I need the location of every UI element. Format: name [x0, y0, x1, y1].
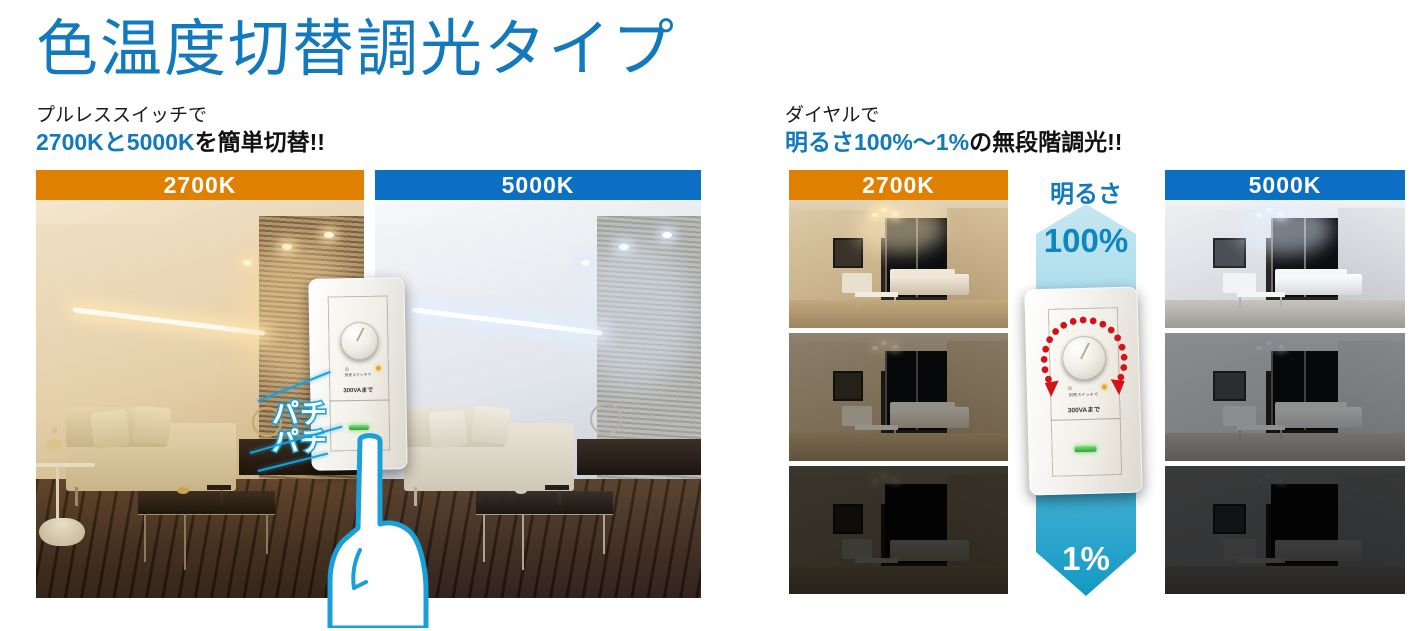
infographic-page: 色温度切替調光タイプ プルレススイッチで 2700Kと5000Kを簡単切替!! … — [0, 0, 1410, 631]
dial-max-marker-right — [1102, 384, 1107, 389]
left-caption-rest: を簡単切替!! — [195, 129, 325, 155]
photo-thumb-5000k-mid — [1165, 333, 1405, 461]
dial-max-marker — [376, 366, 381, 371]
led-indicator-left — [349, 425, 369, 430]
brightness-max-value: 100% — [1032, 222, 1140, 260]
right-bar-2700k: 2700K — [789, 170, 1008, 200]
photo-thumb-5000k-100 — [1165, 200, 1405, 328]
right-caption-rest: の無段階調光!! — [969, 129, 1122, 155]
led-indicator-right — [1074, 446, 1096, 453]
left-bar-5000k-label: 5000K — [502, 172, 575, 199]
left-caption-highlight: 2700Kと5000K — [36, 129, 195, 155]
photo-thumb-2700k-mid — [789, 333, 1008, 461]
switch-label-rating-right: 300VAまで — [1027, 403, 1140, 416]
pointing-hand-icon — [318, 432, 458, 628]
right-bar-2700k-label: 2700K — [862, 172, 935, 199]
dial-min-marker — [345, 367, 349, 371]
left-caption-line1: プルレススイッチで — [36, 104, 325, 128]
right-caption-line2: 明るさ100%～1%の無段階調光!! — [785, 128, 1122, 157]
dimmer-switch-device-right[interactable]: 別売スイッチで 300VAまで — [1024, 287, 1142, 496]
left-bar-2700k: 2700K — [36, 170, 364, 200]
left-bar-5000k: 5000K — [375, 170, 701, 200]
photo-thumb-2700k-min — [789, 466, 1008, 594]
right-caption: ダイヤルで 明るさ100%～1%の無段階調光!! — [785, 104, 1122, 157]
right-bar-5000k-label: 5000K — [1249, 172, 1322, 199]
left-caption: プルレススイッチで 2700Kと5000Kを簡単切替!! — [36, 104, 325, 157]
right-caption-highlight: 明るさ100%～1% — [785, 129, 969, 155]
brightness-min-value: 1% — [1032, 540, 1140, 578]
photo-thumb-2700k-100 — [789, 200, 1008, 328]
dial-min-marker-right — [1068, 386, 1072, 390]
right-bar-5000k: 5000K — [1165, 170, 1405, 200]
left-bar-2700k-label: 2700K — [164, 172, 237, 199]
page-title: 色温度切替調光タイプ — [36, 14, 676, 86]
photo-thumb-5000k-min — [1165, 466, 1405, 594]
right-caption-line1: ダイヤルで — [785, 104, 1122, 128]
left-caption-line2: 2700Kと5000Kを簡単切替!! — [36, 128, 325, 157]
